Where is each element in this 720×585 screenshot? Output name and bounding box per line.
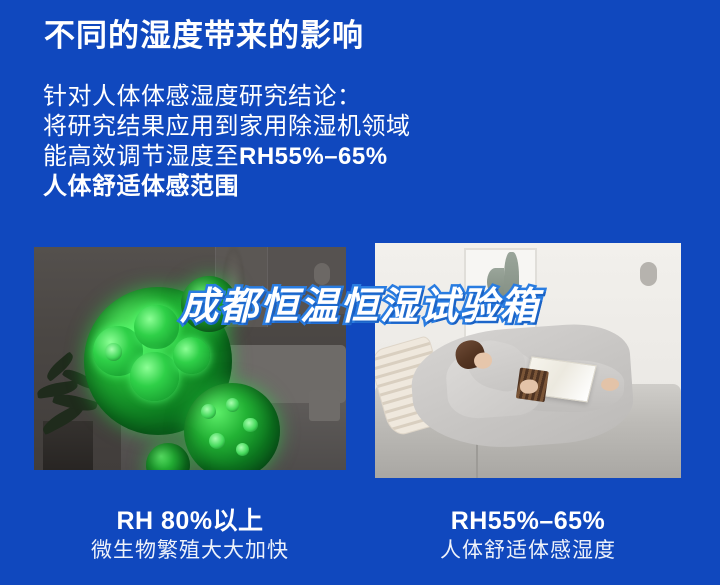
caption-right-description: 人体舒适体感湿度 — [375, 537, 681, 565]
intro-line-4: 人体舒适体感范围 — [43, 172, 503, 202]
page-title: 不同的湿度带来的影响 — [44, 16, 364, 56]
intro-paragraph: 针对人体体感湿度研究结论： 将研究结果应用到家用除湿机领域 能高效调节湿度至RH… — [43, 82, 503, 202]
intro-line-1: 针对人体体感湿度研究结论： — [43, 82, 503, 112]
hand-icon — [519, 378, 538, 393]
side-table-icon — [309, 390, 340, 421]
caption-left-description: 微生物繁殖大大加快 — [34, 537, 346, 565]
caption-left-value: RH 80%以上 — [34, 505, 346, 537]
caption-right-value: RH55%–65% — [375, 505, 681, 537]
watermark-text: 成都恒温恒湿试验箱 — [0, 275, 720, 330]
microbe-virus-icon — [184, 383, 280, 470]
intro-line-2: 将研究结果应用到家用除湿机领域 — [43, 112, 503, 142]
intro-line-3-prefix: 能高效调节湿度至 — [43, 143, 239, 170]
intro-line-3-value: RH55%–65% — [239, 143, 388, 170]
caption-right: RH55%–65% 人体舒适体感湿度 — [375, 505, 681, 565]
person-reading-icon — [408, 320, 636, 453]
intro-line-3: 能高效调节湿度至RH55%–65% — [43, 142, 503, 172]
caption-left: RH 80%以上 微生物繁殖大大加快 — [34, 505, 346, 565]
